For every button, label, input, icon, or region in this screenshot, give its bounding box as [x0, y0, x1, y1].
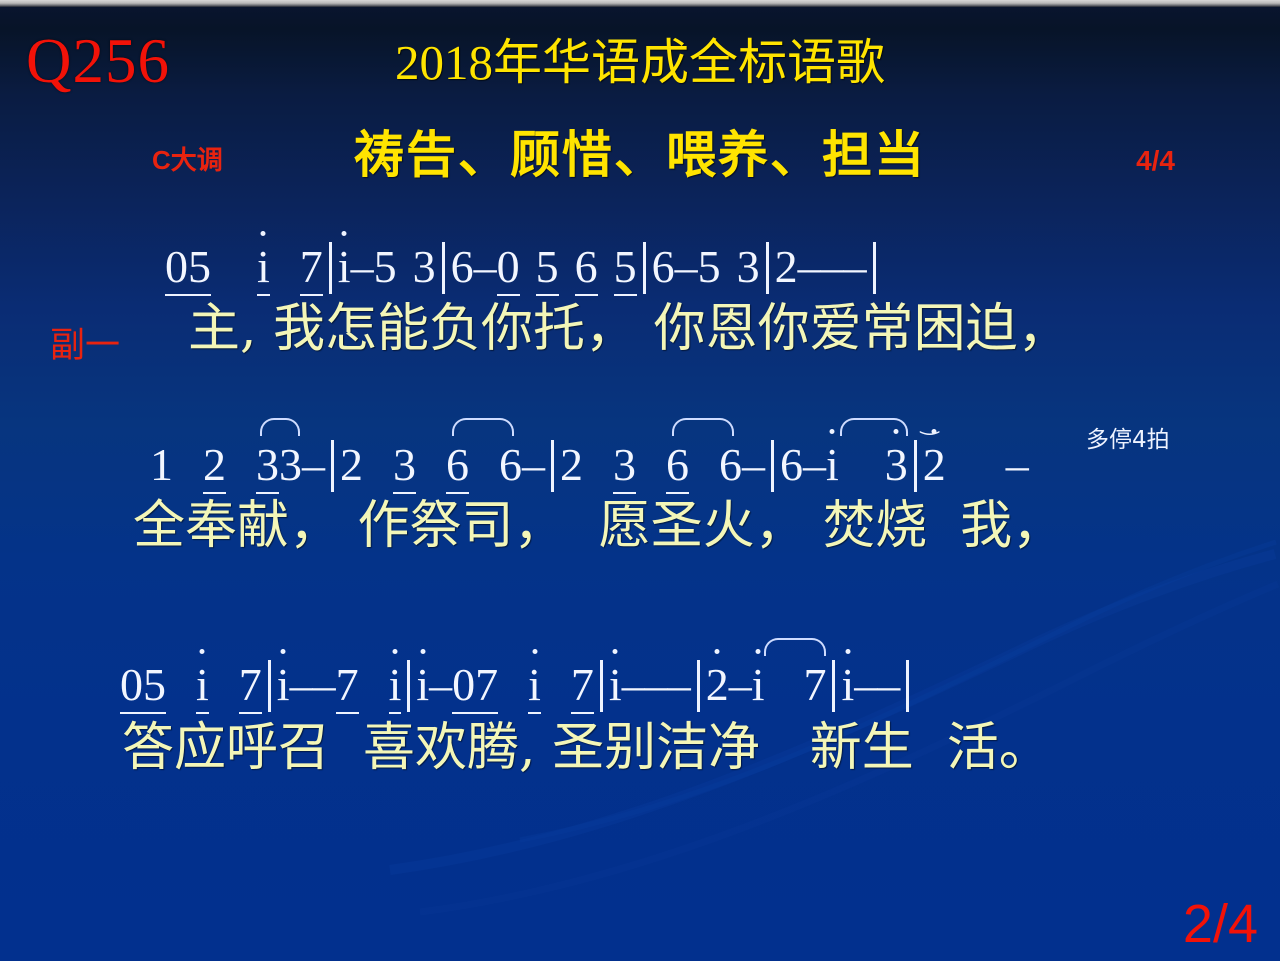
- note-3: 3: [613, 442, 636, 494]
- barline: [832, 660, 835, 712]
- barline: [442, 242, 445, 294]
- note-high-1: i: [416, 662, 429, 708]
- barline: [914, 440, 917, 492]
- barline: [643, 242, 646, 294]
- barline: [766, 242, 769, 294]
- page-title: 2018年华语成全标语歌: [0, 38, 1280, 87]
- note-6: 6: [652, 244, 675, 290]
- section-label: 副一: [50, 317, 120, 368]
- tied-note-group: 33: [256, 442, 302, 494]
- barline: [268, 660, 271, 712]
- note-2: 2: [775, 244, 798, 290]
- slur-arc: [672, 418, 734, 436]
- tied-note-group: 66: [446, 442, 522, 494]
- note-7: 7: [336, 662, 359, 714]
- note-high-1: i: [389, 662, 402, 714]
- lyrics-line-2: 全奉献， 作祭司， 愿圣火， 焚烧 我，: [133, 500, 1064, 552]
- notation-line-3: 05i7i––7ii–07i7i–––2–i7i––: [120, 660, 915, 714]
- tied-note-group: 66: [666, 442, 742, 494]
- note-2: 2: [560, 442, 583, 488]
- note-high-1: i: [528, 662, 541, 714]
- note-5: 5: [698, 244, 721, 290]
- tempo-annotation: 多停4拍: [1086, 420, 1170, 454]
- note-5: 5: [536, 244, 559, 296]
- note-3: 3: [737, 244, 760, 290]
- note-7: 7: [239, 662, 262, 714]
- note-6: 6: [499, 442, 522, 488]
- song-title: 祷告、顾惜、喂养、担当: [0, 130, 1280, 180]
- note-high-1: i: [196, 662, 209, 714]
- barline: [697, 660, 700, 712]
- slur-arc: [260, 418, 300, 436]
- note-6: 6: [451, 244, 474, 290]
- time-signature: 4/4: [1136, 145, 1175, 177]
- barline: [600, 660, 603, 712]
- note-high-1: i: [826, 442, 839, 488]
- note-6: 6: [719, 442, 742, 488]
- note-0: 0: [497, 244, 520, 296]
- note-group: 07: [452, 662, 498, 714]
- note-high-1: i: [609, 662, 622, 708]
- note-3: 3: [256, 442, 279, 494]
- tied-note-group: i3: [826, 442, 908, 488]
- note-group: 05: [120, 662, 166, 714]
- barline: [331, 440, 334, 492]
- note-2: 2: [203, 442, 226, 494]
- note-high-1: i: [841, 662, 854, 708]
- note-7: 7: [803, 662, 826, 708]
- slur-arc: [764, 638, 826, 656]
- barline: [329, 242, 332, 294]
- note-7: 7: [571, 662, 594, 714]
- note-7: 7: [300, 244, 323, 296]
- note-high-2: 2: [706, 662, 729, 708]
- top-edge-strip: [0, 0, 1280, 7]
- note-group: 05: [165, 244, 211, 296]
- note-5: 5: [374, 244, 397, 290]
- note-high-1: i: [257, 244, 270, 296]
- note-high-1: i: [277, 662, 290, 708]
- tied-note-group: i7: [752, 662, 827, 708]
- note-high-1: i: [338, 244, 351, 290]
- note-high-1: i: [752, 662, 765, 708]
- note-1: 1: [150, 442, 173, 488]
- lyrics-line-1: 主, 我怎能负你托， 你恩你爱常困迫，: [188, 303, 1070, 355]
- note-3: 3: [393, 442, 416, 494]
- note-6: 6: [666, 442, 689, 494]
- barline: [873, 242, 876, 294]
- note-3: 3: [413, 244, 436, 290]
- note-high-3: 3: [885, 442, 908, 488]
- note-high-2: 2: [923, 442, 946, 488]
- slur-arc: [452, 418, 514, 436]
- notation-line-2: 1233–2366–2366–6–i3‿2–: [150, 440, 1029, 494]
- note-5: 5: [614, 244, 637, 296]
- note-6: 6: [575, 244, 598, 296]
- note-6: 6: [446, 442, 469, 494]
- lyrics-line-3: 答应呼召 喜欢腾, 圣别洁净 新生 活。: [122, 722, 1051, 774]
- notation-line-1: 05i7i–536–05656–532–––: [165, 242, 882, 296]
- note-3: 3: [279, 442, 302, 488]
- barline: [407, 660, 410, 712]
- note-6: 6: [780, 442, 803, 488]
- presentation-slide: Q256 2018年华语成全标语歌 C大调 祷告、顾惜、喂养、担当 4/4 05…: [0, 0, 1280, 961]
- barline: [771, 440, 774, 492]
- note-2: 2: [340, 442, 363, 488]
- fermata-note-group: ‿2: [923, 442, 946, 488]
- barline: [906, 660, 909, 712]
- page-number: 2/4: [1183, 897, 1258, 951]
- barline: [551, 440, 554, 492]
